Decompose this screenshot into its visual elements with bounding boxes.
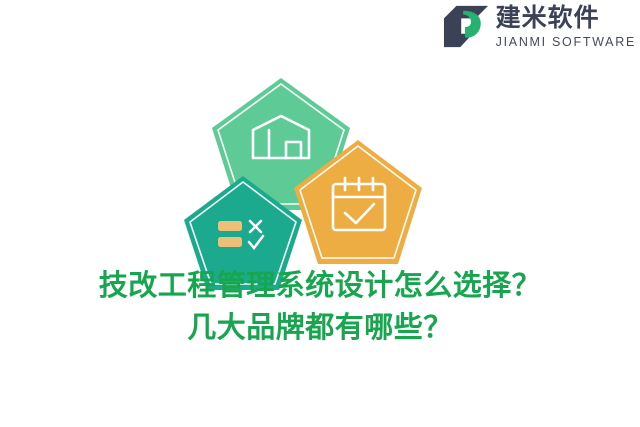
jianmi-logo-mark-icon — [442, 4, 490, 50]
brand-name-cn: 建米软件 — [496, 6, 636, 31]
orange-pentagon — [288, 134, 428, 277]
brand-name-en: JIANMI SOFTWARE — [496, 36, 636, 49]
brand-logo[interactable]: 建米软件 JIANMI SOFTWARE — [442, 4, 636, 50]
headline-line-2: 几大品牌都有哪些？ — [0, 306, 640, 348]
article-banner: 建米软件 JIANMI SOFTWARE — [0, 0, 640, 427]
pentagon-illustration — [178, 72, 393, 262]
headline-line-1: 技改工程管理系统设计怎么选择？ — [0, 264, 640, 306]
page-title: 技改工程管理系统设计怎么选择？ 几大品牌都有哪些？ — [0, 264, 640, 348]
brand-logo-text: 建米软件 JIANMI SOFTWARE — [496, 6, 636, 49]
